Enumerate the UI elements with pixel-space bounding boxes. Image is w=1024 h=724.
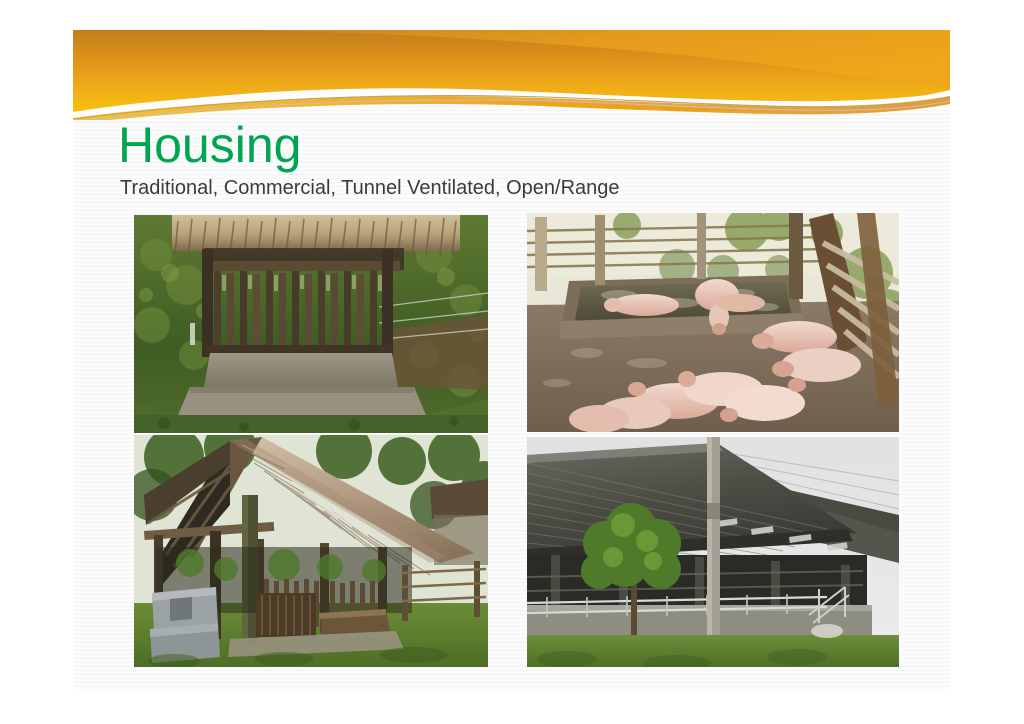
open-range-pigs-photo [527,213,899,432]
page-title: Housing [118,118,918,172]
title-block: Housing Traditional, Commercial, Tunnel … [118,118,918,200]
commercial-pig-barn-photo [527,437,899,667]
thatched-pig-house-photo [134,435,488,667]
traditional-pig-pen-photo [134,215,488,433]
slide-canvas: Housing Traditional, Commercial, Tunnel … [73,30,950,690]
swoosh-graphic [73,30,950,120]
orange-swoosh-banner [73,30,950,120]
page-subtitle: Traditional, Commercial, Tunnel Ventilat… [120,176,918,200]
